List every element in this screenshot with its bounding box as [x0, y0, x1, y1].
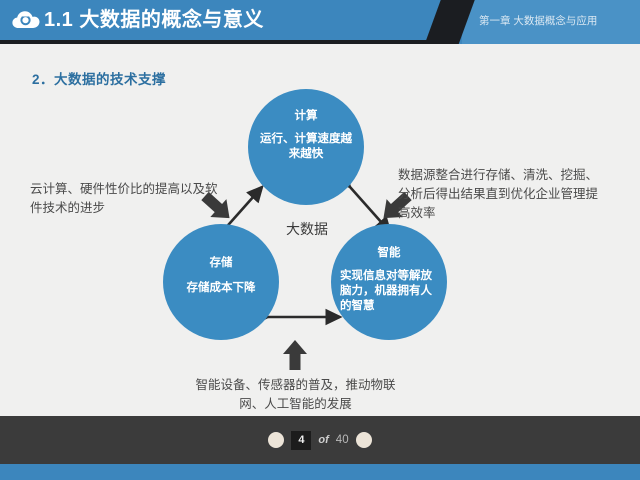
page-title: 1.1 大数据的概念与意义	[44, 7, 264, 33]
annotation-right: 数据源整合进行存储、清洗、挖掘、分析后得出结果直到优化企业管理提高效率	[398, 166, 598, 223]
header-title-group: 1.1 大数据的概念与意义	[10, 7, 264, 33]
node-storage-title: 存储	[163, 256, 279, 271]
current-page-indicator[interactable]: 4	[291, 431, 311, 450]
node-storage[interactable]: 存储 存储成本下降	[163, 224, 279, 340]
big-data-triangle-diagram: 计算 运行、计算速度越来越快 存储 存储成本下降 智能 实现信息对等解放脑力，机…	[0, 44, 640, 416]
node-compute-body: 运行、计算速度越来越快	[248, 132, 364, 162]
chapter-label: 第一章 大数据概念与应用	[479, 14, 597, 28]
prev-page-button[interactable]	[268, 432, 284, 448]
next-page-button[interactable]	[356, 432, 372, 448]
node-compute-title: 计算	[248, 109, 364, 124]
total-pages-label: 40	[336, 434, 349, 446]
node-compute[interactable]: 计算 运行、计算速度越来越快	[248, 89, 364, 205]
slide-body: 2．大数据的技术支撑	[0, 44, 640, 416]
node-storage-body: 存储成本下降	[163, 281, 279, 296]
page-of-label: of	[318, 434, 328, 446]
bottom-accent-strip	[0, 464, 640, 480]
pagination-bar: 4 of 40	[0, 416, 640, 464]
slide-header: 1.1 大数据的概念与意义 第一章 大数据概念与应用	[0, 0, 640, 44]
slide-canvas: 1.1 大数据的概念与意义 第一章 大数据概念与应用 2．大数据的技术支撑	[0, 0, 640, 480]
node-intelligence-title: 智能	[331, 246, 447, 261]
block-arrow-bottom	[283, 340, 307, 370]
annotation-bottom: 智能设备、传感器的普及，推动物联网、人工智能的发展	[188, 376, 403, 414]
annotation-left: 云计算、硬件性价比的提高以及软件技术的进步	[30, 180, 220, 218]
diagram-center-label: 大数据	[262, 220, 352, 238]
node-intelligence[interactable]: 智能 实现信息对等解放脑力，机器拥有人的智慧	[331, 224, 447, 340]
node-intelligence-body: 实现信息对等解放脑力，机器拥有人的智慧	[331, 269, 447, 314]
cloud-camera-icon	[10, 7, 42, 33]
